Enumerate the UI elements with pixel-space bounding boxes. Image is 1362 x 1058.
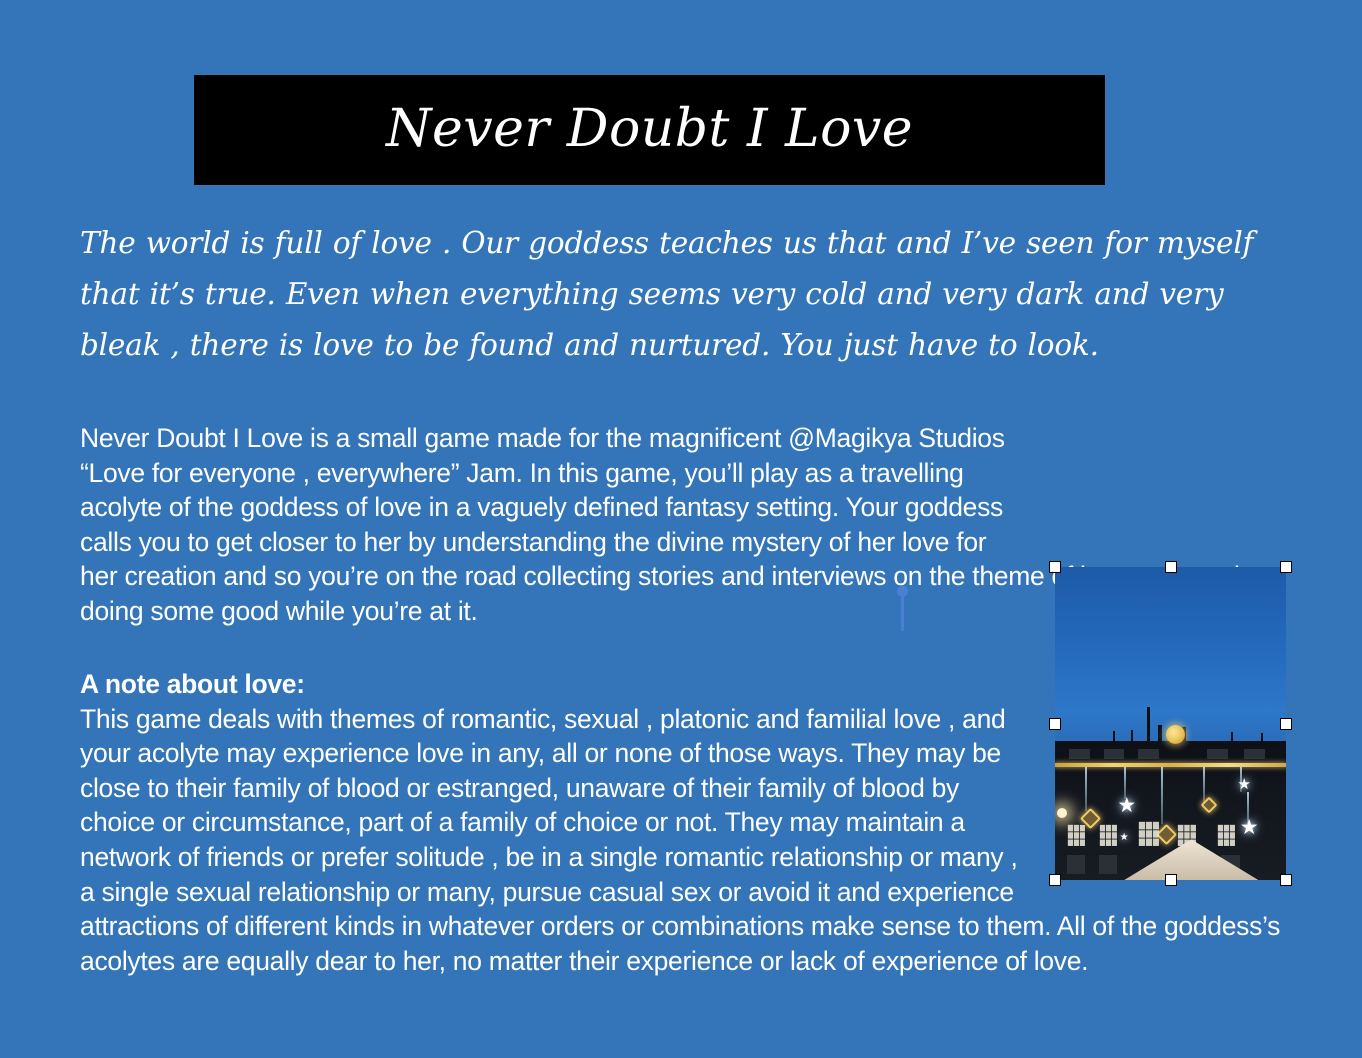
photo-antenna bbox=[1113, 731, 1115, 741]
resize-handle-middle-right[interactable] bbox=[1280, 718, 1292, 730]
picture-frame[interactable]: ★ ★ ★ ★ bbox=[1055, 567, 1286, 880]
photo-window bbox=[1067, 824, 1085, 846]
night-photo-image[interactable]: ★ ★ ★ ★ bbox=[1055, 567, 1286, 880]
resize-handle-top-left[interactable] bbox=[1049, 561, 1061, 573]
photo-antenna bbox=[1261, 733, 1263, 741]
resize-handle-top-center[interactable] bbox=[1165, 561, 1177, 573]
photo-antenna bbox=[1131, 730, 1133, 741]
photo-antenna bbox=[1147, 707, 1150, 741]
photo-window bbox=[1099, 855, 1117, 874]
photo-window bbox=[1138, 749, 1159, 760]
photo-light-string bbox=[1203, 767, 1205, 801]
photo-window bbox=[1244, 749, 1265, 760]
picture-wrap-spacer bbox=[1025, 421, 1295, 546]
text-insertion-caret[interactable] bbox=[901, 595, 904, 631]
photo-window bbox=[1099, 824, 1117, 846]
photo-window bbox=[1138, 821, 1159, 846]
photo-window bbox=[1207, 749, 1228, 760]
photo-window bbox=[1104, 749, 1125, 760]
photo-window bbox=[1069, 749, 1090, 760]
resize-handle-bottom-right[interactable] bbox=[1280, 874, 1292, 886]
intro-paragraph[interactable]: The world is full of love . Our goddess … bbox=[80, 218, 1295, 371]
photo-star-ornament: ★ bbox=[1237, 777, 1250, 792]
resize-handle-bottom-left[interactable] bbox=[1049, 874, 1061, 886]
photo-antenna bbox=[1231, 732, 1233, 741]
photo-star-ornament: ★ bbox=[1120, 833, 1129, 843]
resize-handle-bottom-center[interactable] bbox=[1165, 874, 1177, 886]
photo-antenna bbox=[1158, 725, 1162, 741]
slide-canvas: { "theme": { "background_color": "#3375b… bbox=[0, 0, 1362, 1058]
photo-sky bbox=[1055, 567, 1286, 742]
photo-window bbox=[1067, 855, 1085, 874]
title-banner[interactable]: Never Doubt I Love bbox=[194, 75, 1105, 185]
resize-handle-middle-left[interactable] bbox=[1049, 718, 1061, 730]
photo-window bbox=[1217, 824, 1235, 846]
photo-light-string bbox=[1085, 767, 1087, 811]
resize-handle-top-right[interactable] bbox=[1280, 561, 1292, 573]
page-title: Never Doubt I Love bbox=[386, 101, 913, 158]
photo-garland bbox=[1055, 763, 1286, 767]
photo-star-ornament: ★ bbox=[1240, 817, 1259, 838]
photo-light-string bbox=[1161, 767, 1163, 823]
photo-star-ornament: ★ bbox=[1117, 795, 1136, 816]
